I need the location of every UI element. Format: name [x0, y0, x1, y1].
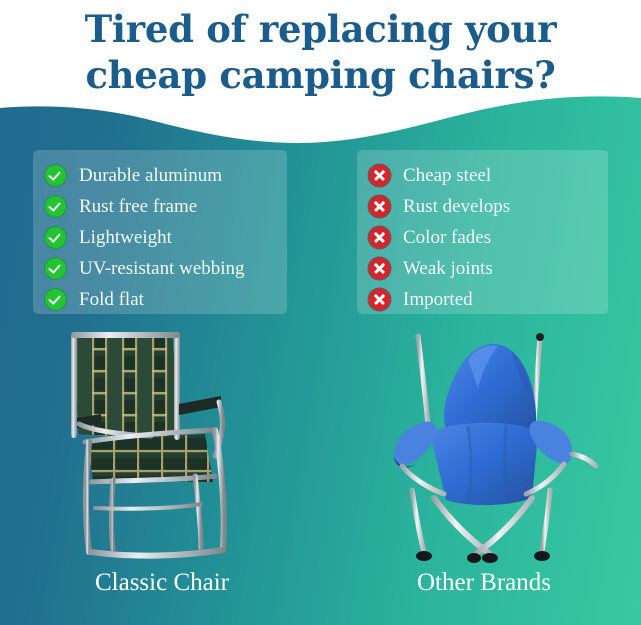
list-item: Lightweight: [45, 222, 275, 252]
x-circle-icon: [369, 196, 390, 217]
check-circle-icon: [45, 258, 66, 279]
list-item-label: Imported: [403, 289, 473, 310]
other-brands-caption: Other Brands: [358, 568, 610, 598]
check-circle-icon: [45, 196, 66, 217]
list-item: Rust free frame: [45, 191, 275, 221]
blue-fabric-folding-camp-chair-illustration: [372, 330, 600, 565]
list-item: Weak joints: [369, 253, 596, 283]
list-item: Color fades: [369, 222, 596, 252]
headline-line-1: Tired of replacing your: [0, 6, 641, 52]
list-item: Fold flat: [45, 284, 275, 314]
list-item-label: Durable aluminum: [79, 165, 222, 186]
cons-list: Cheap steel Rust develops Color fades We…: [369, 160, 596, 314]
comparison-infographic: Tired of replacing your cheap camping ch…: [0, 0, 641, 625]
x-circle-icon: [369, 165, 390, 186]
cons-panel: Cheap steel Rust develops Color fades We…: [357, 150, 608, 314]
pros-list: Durable aluminum Rust free frame Lightwe…: [45, 160, 275, 314]
list-item: Durable aluminum: [45, 160, 275, 190]
check-circle-icon: [45, 165, 66, 186]
x-circle-icon: [369, 227, 390, 248]
x-circle-icon: [369, 289, 390, 310]
page-title: Tired of replacing your cheap camping ch…: [0, 6, 641, 98]
list-item: Rust develops: [369, 191, 596, 221]
list-item-label: Cheap steel: [403, 165, 491, 186]
list-item-label: Weak joints: [403, 258, 493, 279]
check-circle-icon: [45, 227, 66, 248]
webbed-aluminum-lawn-chair-illustration: [55, 330, 270, 565]
list-item: UV-resistant webbing: [45, 253, 275, 283]
list-item-label: Lightweight: [79, 227, 172, 248]
x-circle-icon: [369, 258, 390, 279]
check-circle-icon: [45, 289, 66, 310]
list-item-label: UV-resistant webbing: [79, 258, 245, 279]
list-item: Imported: [369, 284, 596, 314]
classic-chair-image: [55, 330, 270, 565]
other-brands-chair-image: [372, 330, 600, 565]
list-item: Cheap steel: [369, 160, 596, 190]
headline-line-2: cheap camping chairs?: [0, 52, 641, 98]
list-item-label: Rust free frame: [79, 196, 197, 217]
list-item-label: Fold flat: [79, 289, 144, 310]
pros-panel: Durable aluminum Rust free frame Lightwe…: [33, 150, 287, 314]
list-item-label: Rust develops: [403, 196, 510, 217]
classic-chair-caption: Classic Chair: [38, 568, 286, 598]
list-item-label: Color fades: [403, 227, 491, 248]
